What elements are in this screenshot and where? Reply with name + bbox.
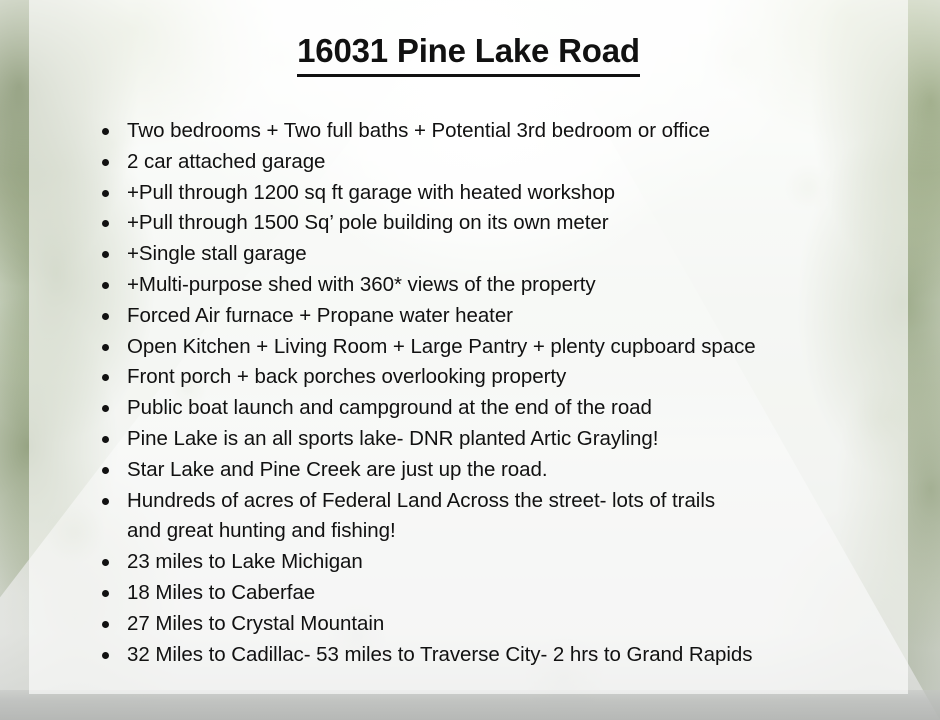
list-item: 2 car attached garage bbox=[100, 147, 898, 178]
list-item: Two bedrooms + Two full baths + Potentia… bbox=[100, 116, 898, 147]
list-item: +Single stall garage bbox=[100, 239, 898, 270]
list-item: +Pull through 1500 Sq’ pole building on … bbox=[100, 208, 898, 239]
list-item: Public boat launch and campground at the… bbox=[100, 393, 898, 424]
list-item: Star Lake and Pine Creek are just up the… bbox=[100, 455, 898, 486]
list-item: 18 Miles to Caberfae bbox=[100, 578, 898, 609]
property-flyer-slide: 16031 Pine Lake Road Two bedrooms + Two … bbox=[0, 0, 940, 720]
list-item: Front porch + back porches overlooking p… bbox=[100, 362, 898, 393]
list-item: 23 miles to Lake Michigan bbox=[100, 547, 898, 578]
list-item: Open Kitchen + Living Room + Large Pantr… bbox=[100, 332, 898, 363]
list-item: Pine Lake is an all sports lake- DNR pla… bbox=[100, 424, 898, 455]
list-item: 27 Miles to Crystal Mountain bbox=[100, 609, 898, 640]
list-item: Hundreds of acres of Federal Land Across… bbox=[100, 486, 898, 548]
list-item: Forced Air furnace + Propane water heate… bbox=[100, 301, 898, 332]
content-card: 16031 Pine Lake Road Two bedrooms + Two … bbox=[29, 0, 908, 694]
list-item: +Multi-purpose shed with 360* views of t… bbox=[100, 270, 898, 301]
list-item: +Pull through 1200 sq ft garage with hea… bbox=[100, 178, 898, 209]
list-item: 32 Miles to Cadillac- 53 miles to Traver… bbox=[100, 640, 898, 671]
feature-list: Two bedrooms + Two full baths + Potentia… bbox=[100, 116, 898, 670]
background-roadbed bbox=[0, 690, 940, 720]
page-title-text: 16031 Pine Lake Road bbox=[297, 32, 640, 77]
page-title: 16031 Pine Lake Road bbox=[29, 32, 908, 77]
